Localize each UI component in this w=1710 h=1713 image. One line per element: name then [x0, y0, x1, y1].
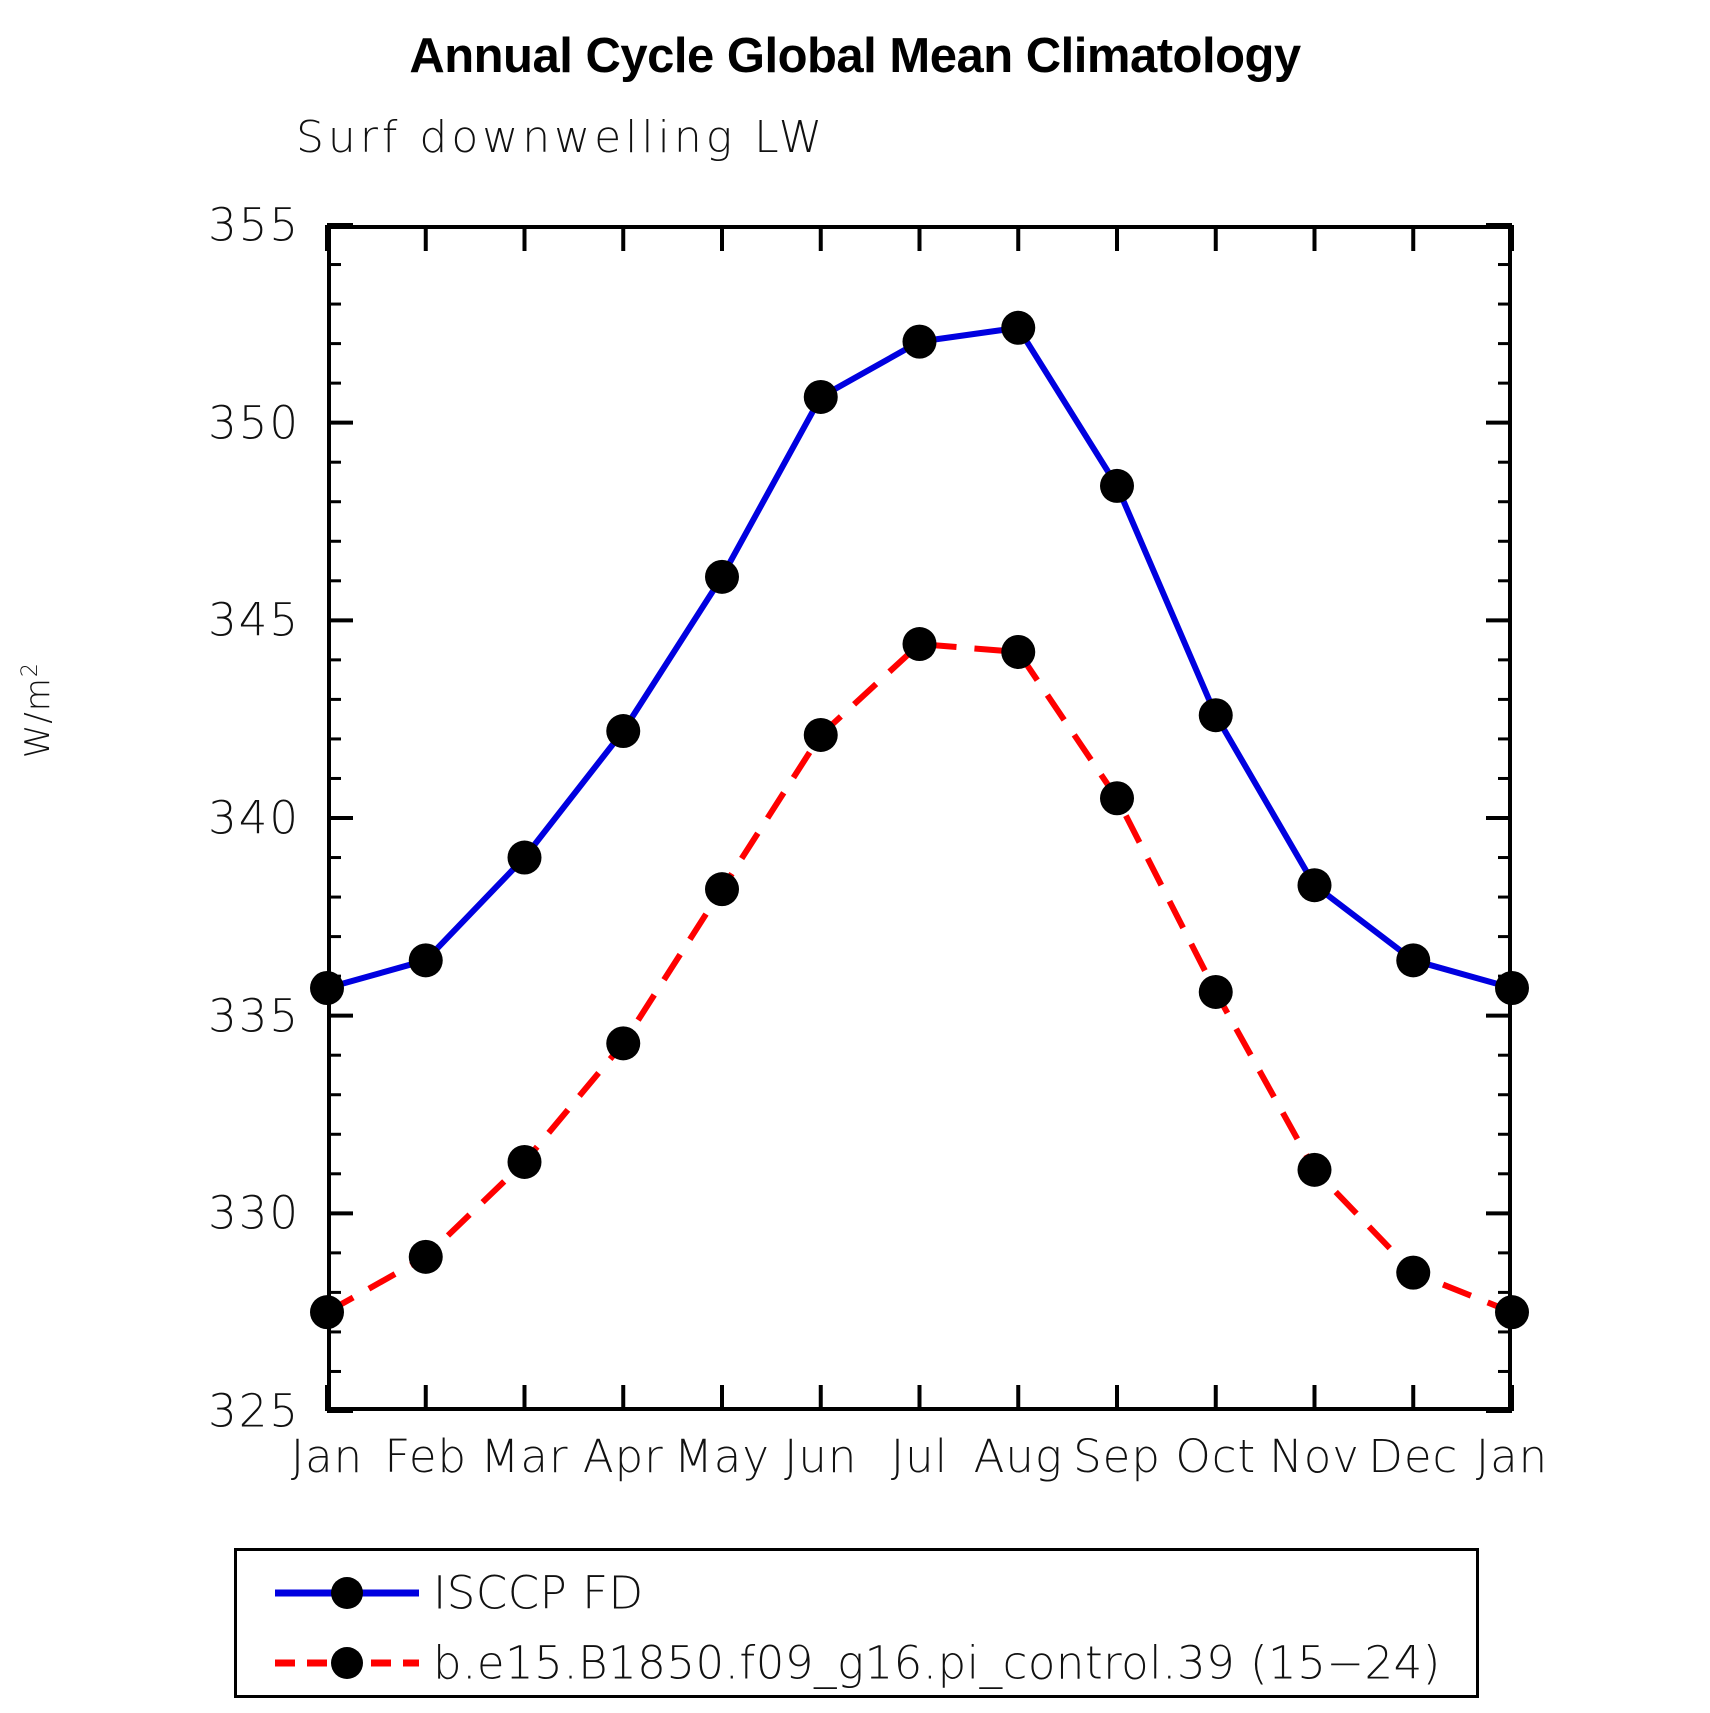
data-point-marker [1199, 698, 1233, 732]
x-tick-label: Jun [784, 1430, 857, 1483]
legend-sample-1 [273, 1557, 421, 1629]
data-point-marker [903, 627, 937, 661]
data-point-marker [409, 943, 443, 977]
x-tick-label: Jan [291, 1430, 363, 1483]
data-point-marker [606, 714, 640, 748]
legend-item-1[interactable]: ISCCP FD [237, 1557, 1476, 1629]
y-axis-title-exponent: 2 [18, 662, 43, 677]
x-tick-label: Jul [891, 1430, 948, 1483]
data-point-marker [1298, 1153, 1332, 1187]
legend-marker-2 [331, 1647, 363, 1679]
data-point-marker [1495, 971, 1529, 1005]
page-title: Annual Cycle Global Mean Climatology [0, 28, 1710, 84]
legend-sample-2 [273, 1627, 421, 1699]
x-tick-label: Jan [1476, 1430, 1548, 1483]
y-axis-title: W/m2 [18, 620, 58, 800]
data-point-marker [409, 1240, 443, 1274]
y-axis-title-text: W/m [18, 677, 58, 758]
data-point-marker [804, 380, 838, 414]
chart-subtitle: Surf downwelling LW [296, 112, 826, 163]
series-line-2 [327, 644, 1512, 1312]
x-tick-label: Apr [583, 1430, 664, 1483]
data-point-marker [1001, 635, 1035, 669]
data-point-marker [1396, 1256, 1430, 1290]
x-tick-label: Sep [1073, 1430, 1161, 1483]
data-point-marker [1298, 868, 1332, 902]
legend-label-2: b.e15.B1850.f09_g16.pi_control.39 (15−24… [433, 1637, 1441, 1690]
data-point-marker [1100, 781, 1134, 815]
x-axis-tick-labels: JanFebMarAprMayJunJulAugSepOctNovDecJan [327, 1430, 1512, 1500]
data-point-marker [804, 718, 838, 752]
data-point-marker [1001, 311, 1035, 345]
data-point-marker [1199, 975, 1233, 1009]
data-point-marker [1495, 1295, 1529, 1329]
x-tick-label: Nov [1269, 1430, 1360, 1483]
axis-ticks-group [327, 225, 1512, 1411]
x-tick-label: May [674, 1430, 770, 1483]
data-point-marker [1100, 469, 1134, 503]
data-point-marker [508, 841, 542, 875]
legend-label-1: ISCCP FD [433, 1567, 644, 1620]
x-tick-label: Dec [1368, 1430, 1458, 1483]
chart-canvas [267, 185, 1587, 1485]
plot-area [327, 225, 1512, 1411]
legend-marker-1 [331, 1577, 363, 1609]
x-tick-label: Mar [481, 1430, 569, 1483]
x-tick-label: Feb [384, 1430, 467, 1483]
data-point-marker [606, 1026, 640, 1060]
data-point-marker [310, 971, 344, 1005]
data-point-marker [310, 1295, 344, 1329]
data-point-marker [508, 1145, 542, 1179]
x-tick-label: Aug [974, 1430, 1063, 1483]
data-point-marker [903, 325, 937, 359]
series-2 [310, 627, 1529, 1329]
x-tick-label: Oct [1175, 1430, 1256, 1483]
data-point-marker [1396, 943, 1430, 977]
data-point-marker [705, 872, 739, 906]
legend: ISCCP FDb.e15.B1850.f09_g16.pi_control.3… [234, 1548, 1479, 1698]
data-point-marker [705, 560, 739, 594]
legend-item-2[interactable]: b.e15.B1850.f09_g16.pi_control.39 (15−24… [237, 1627, 1476, 1699]
